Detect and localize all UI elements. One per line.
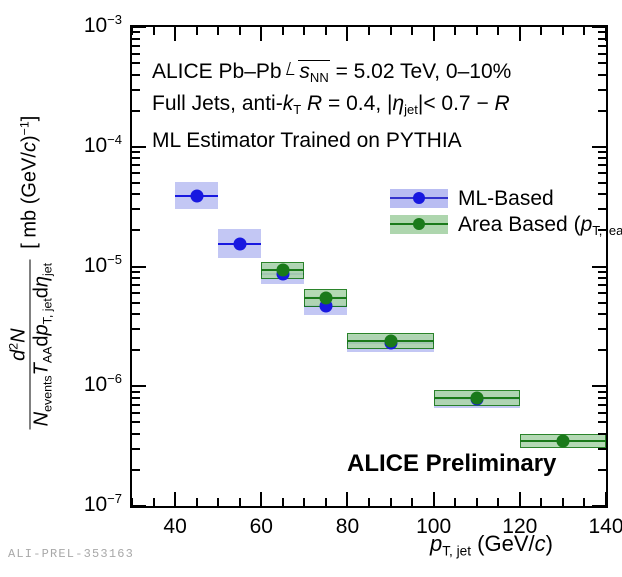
data-point-marker <box>190 189 203 202</box>
x-minor-tick-top <box>239 27 241 35</box>
y-minor-tick <box>132 45 140 47</box>
legend-label-ml-based: ML-Based <box>458 188 554 209</box>
y-minor-tick <box>132 31 140 33</box>
y-minor-tick-right <box>598 182 606 184</box>
y-title-den-pt: T, jet <box>40 298 54 324</box>
x-minor-tick <box>153 498 155 506</box>
y-major-tick-right <box>592 146 606 148</box>
y-minor-tick-right <box>598 172 606 174</box>
figure-root: d2N NeventsTAAdpT, jetdηjet [ mb (GeV/c)… <box>0 0 622 577</box>
y-minor-tick-right <box>598 110 606 112</box>
y-minor-tick-right <box>598 313 606 315</box>
y-tick-label: 10−7 <box>0 494 122 515</box>
y-tick-label: 10−3 <box>0 15 122 36</box>
x-major-tick-top <box>519 27 521 41</box>
y-minor-tick <box>132 110 140 112</box>
y-major-tick <box>132 26 146 28</box>
x-minor-tick-top <box>153 27 155 35</box>
y-minor-tick <box>132 151 140 153</box>
header-line-3: ML Estimator Trained on PYTHIA <box>152 130 462 151</box>
y-minor-tick <box>132 38 140 40</box>
y-minor-tick <box>132 448 140 450</box>
x-minor-tick <box>390 498 392 506</box>
x-minor-tick <box>282 498 284 506</box>
data-point-marker <box>319 291 332 304</box>
y-title-den-taa: AA <box>40 347 54 364</box>
y-minor-tick <box>132 164 140 166</box>
x-minor-tick-top <box>583 27 585 35</box>
y-minor-tick-right <box>598 292 606 294</box>
y-major-tick-right <box>592 266 606 268</box>
y-minor-tick <box>132 412 140 414</box>
x-minor-tick-top <box>217 27 219 35</box>
y-major-tick-right <box>592 505 606 507</box>
y-minor-tick-right <box>598 45 606 47</box>
x-minor-tick <box>562 498 564 506</box>
x-minor-tick <box>540 498 542 506</box>
y-title-num-sup: 2 <box>7 343 21 350</box>
y-minor-tick-right <box>598 448 606 450</box>
y-tick-label: 10−5 <box>0 255 122 276</box>
x-tick-label: 140 <box>566 516 622 537</box>
y-minor-tick-right <box>598 62 606 64</box>
legend-item-area-based[interactable]: Area Based (pT, lead > 7 GeV/c) <box>390 213 622 235</box>
x-tick-label: 120 <box>480 516 560 537</box>
plot-frame: ALICE Pb–Pb sNN = 5.02 TeV, 0–10% Full J… <box>130 25 608 508</box>
y-minor-tick <box>132 302 140 304</box>
x-minor-tick <box>411 498 413 506</box>
y-minor-tick-right <box>598 433 606 435</box>
y-minor-tick <box>132 89 140 91</box>
y-tick-label: 10−6 <box>0 374 122 395</box>
data-point-marker <box>384 334 397 347</box>
y-minor-tick <box>132 292 140 294</box>
y-minor-tick <box>132 62 140 64</box>
data-point-marker <box>556 434 569 447</box>
x-minor-tick-top <box>131 27 133 35</box>
x-minor-tick <box>454 498 456 506</box>
x-minor-tick-top <box>325 27 327 35</box>
y-minor-tick <box>132 397 140 399</box>
x-major-tick <box>260 492 262 506</box>
header-line-2: Full Jets, anti-kT R = 0.4, |ηjet|< 0.7 … <box>152 93 510 114</box>
y-minor-tick-right <box>598 164 606 166</box>
y-minor-tick-right <box>598 397 606 399</box>
x-minor-tick <box>239 498 241 506</box>
y-minor-tick <box>132 313 140 315</box>
y-minor-tick <box>132 182 140 184</box>
preliminary-label: ALICE Preliminary <box>347 452 556 476</box>
x-major-tick <box>605 492 607 506</box>
legend-item-ml-based[interactable]: ML-Based <box>390 187 622 209</box>
x-minor-tick-top <box>476 27 478 35</box>
y-minor-tick-right <box>598 391 606 393</box>
x-minor-tick <box>303 498 305 506</box>
y-minor-tick-right <box>598 277 606 279</box>
x-major-tick-top <box>260 27 262 41</box>
y-minor-tick <box>132 328 140 330</box>
y-minor-tick <box>132 404 140 406</box>
y-minor-tick <box>132 172 140 174</box>
y-tick-label: 10−4 <box>0 135 122 156</box>
x-minor-tick <box>196 498 198 506</box>
y-major-tick <box>132 385 146 387</box>
y-minor-tick-right <box>598 271 606 273</box>
y-minor-tick-right <box>598 151 606 153</box>
x-minor-tick-top <box>196 27 198 35</box>
y-minor-tick-right <box>598 404 606 406</box>
x-major-tick <box>346 492 348 506</box>
x-minor-tick <box>217 498 219 506</box>
y-minor-tick-right <box>598 469 606 471</box>
x-minor-tick <box>131 498 133 506</box>
x-major-tick-top <box>433 27 435 41</box>
x-major-tick <box>174 492 176 506</box>
y-minor-tick <box>132 193 140 195</box>
y-title-num-N: N <box>8 328 30 342</box>
x-minor-tick-top <box>454 27 456 35</box>
y-major-tick-right <box>592 26 606 28</box>
legend-swatch-area-based <box>390 215 448 234</box>
watermark-id: ALI-PREL-353163 <box>8 547 134 561</box>
x-tick-label: 100 <box>394 516 474 537</box>
y-minor-tick <box>132 53 140 55</box>
x-minor-tick-top <box>282 27 284 35</box>
x-title-sub: T, jet <box>442 543 471 558</box>
y-major-tick-right <box>592 385 606 387</box>
y-minor-tick <box>132 284 140 286</box>
x-minor-tick <box>325 498 327 506</box>
y-minor-tick-right <box>598 284 606 286</box>
y-minor-tick-right <box>598 74 606 76</box>
x-tick-label: 40 <box>135 516 215 537</box>
y-minor-tick-right <box>598 328 606 330</box>
y-minor-tick <box>132 391 140 393</box>
x-minor-tick-top <box>411 27 413 35</box>
x-major-tick-top <box>605 27 607 41</box>
y-minor-tick <box>132 208 140 210</box>
x-minor-tick <box>497 498 499 506</box>
y-minor-tick <box>132 421 140 423</box>
header-line-1: ALICE Pb–Pb sNN = 5.02 TeV, 0–10% <box>152 60 511 82</box>
x-minor-tick <box>476 498 478 506</box>
y-minor-tick <box>132 229 140 231</box>
x-minor-tick-top <box>390 27 392 35</box>
x-tick-label: 60 <box>221 516 301 537</box>
legend-swatch-ml-based <box>390 189 448 208</box>
y-minor-tick-right <box>598 349 606 351</box>
x-minor-tick-top <box>303 27 305 35</box>
x-minor-tick <box>368 498 370 506</box>
x-major-tick-top <box>346 27 348 41</box>
y-minor-tick-right <box>598 89 606 91</box>
x-major-tick-top <box>174 27 176 41</box>
x-tick-label: 80 <box>307 516 387 537</box>
y-major-tick <box>132 146 146 148</box>
x-minor-tick-top <box>497 27 499 35</box>
y-minor-tick <box>132 469 140 471</box>
x-major-tick <box>433 492 435 506</box>
x-major-tick <box>519 492 521 506</box>
y-minor-tick <box>132 277 140 279</box>
x-minor-tick <box>583 498 585 506</box>
y-minor-tick <box>132 433 140 435</box>
y-minor-tick-right <box>598 421 606 423</box>
y-major-tick <box>132 505 146 507</box>
legend: ML-Based Area Based (pT, lead > 7 GeV/c) <box>390 187 622 239</box>
y-minor-tick-right <box>598 302 606 304</box>
x-minor-tick-top <box>562 27 564 35</box>
data-point-marker <box>276 264 289 277</box>
data-point-marker <box>233 237 246 250</box>
y-minor-tick <box>132 74 140 76</box>
y-minor-tick-right <box>598 412 606 414</box>
y-minor-tick-right <box>598 53 606 55</box>
y-minor-tick-right <box>598 157 606 159</box>
x-minor-tick-top <box>368 27 370 35</box>
y-minor-tick <box>132 271 140 273</box>
data-point-marker <box>470 391 483 404</box>
y-minor-tick <box>132 157 140 159</box>
x-minor-tick-top <box>540 27 542 35</box>
legend-label-area-based: Area Based (pT, lead > 7 GeV/c) <box>458 214 622 235</box>
y-minor-tick <box>132 349 140 351</box>
y-major-tick <box>132 266 146 268</box>
